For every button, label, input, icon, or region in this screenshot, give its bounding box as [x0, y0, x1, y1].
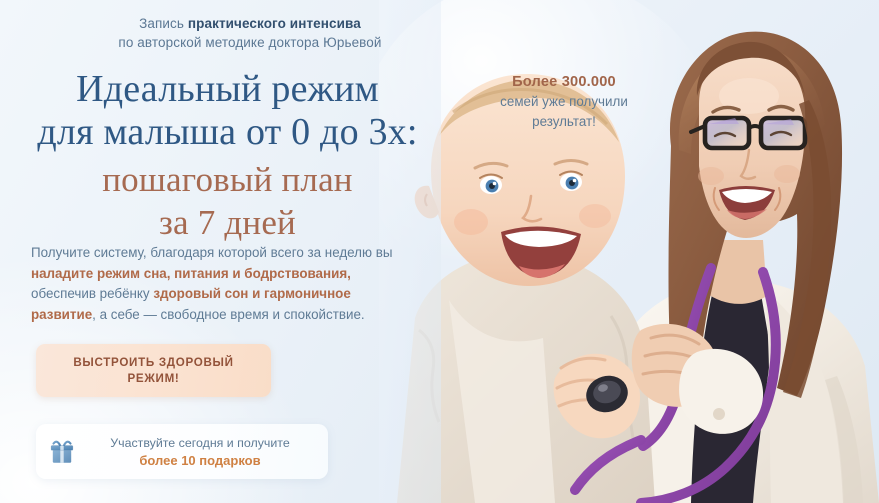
badge-line-2: семей уже получили	[500, 94, 628, 109]
eyebrow-text: Запись практического интенсива по авторс…	[0, 14, 500, 52]
badge-line-3: результат!	[532, 114, 596, 129]
landing-hero-page: Запись практического интенсива по авторс…	[0, 0, 879, 503]
headline-line-4: за 7 дней	[0, 201, 455, 244]
cta-label-line1: ВЫСТРОИТЬ ЗДОРОВЫЙ	[73, 356, 233, 369]
gift-promo-text: Участвуйте сегодня и получите более 10 п…	[88, 434, 328, 470]
eyebrow-line1-strong: практического интенсива	[188, 16, 361, 31]
gift-promo-card[interactable]: Участвуйте сегодня и получите более 10 п…	[36, 424, 328, 479]
lead-paragraph: Получите систему, благодаря которой всег…	[31, 243, 401, 325]
lead-seg-3: обеспечив ребёнку	[31, 286, 153, 301]
eyebrow-line2: по авторской методике доктора Юрьевой	[0, 33, 500, 52]
lead-seg-5: , а себе — свободное время и спокойствие…	[92, 307, 364, 322]
lead-seg-1: Получите систему, благодаря которой всег…	[31, 245, 392, 260]
headline-line-3: пошаговый план	[0, 158, 455, 201]
gift-box-icon	[36, 439, 88, 465]
headline-line-1: Идеальный режим	[0, 68, 455, 111]
gift-line-2-strong: более 10 подарков	[88, 452, 312, 470]
cta-label-line2: РЕЖИМ!	[46, 371, 261, 387]
badge-count: Более 300.000	[440, 72, 688, 92]
headline-line-2: для малыша от 0 до 3х:	[0, 111, 455, 154]
lead-seg-2-strong: наладите режим сна, питания и бодрствова…	[31, 266, 351, 281]
page-title: Идеальный режим для малыша от 0 до 3х: п…	[0, 68, 455, 244]
gift-line-1: Участвуйте сегодня и получите	[110, 436, 289, 450]
social-proof-badge: Более 300.000 семей уже получили результ…	[440, 72, 688, 132]
build-healthy-routine-button[interactable]: ВЫСТРОИТЬ ЗДОРОВЫЙ РЕЖИМ!	[36, 344, 271, 397]
eyebrow-line1-prefix: Запись	[139, 16, 188, 31]
